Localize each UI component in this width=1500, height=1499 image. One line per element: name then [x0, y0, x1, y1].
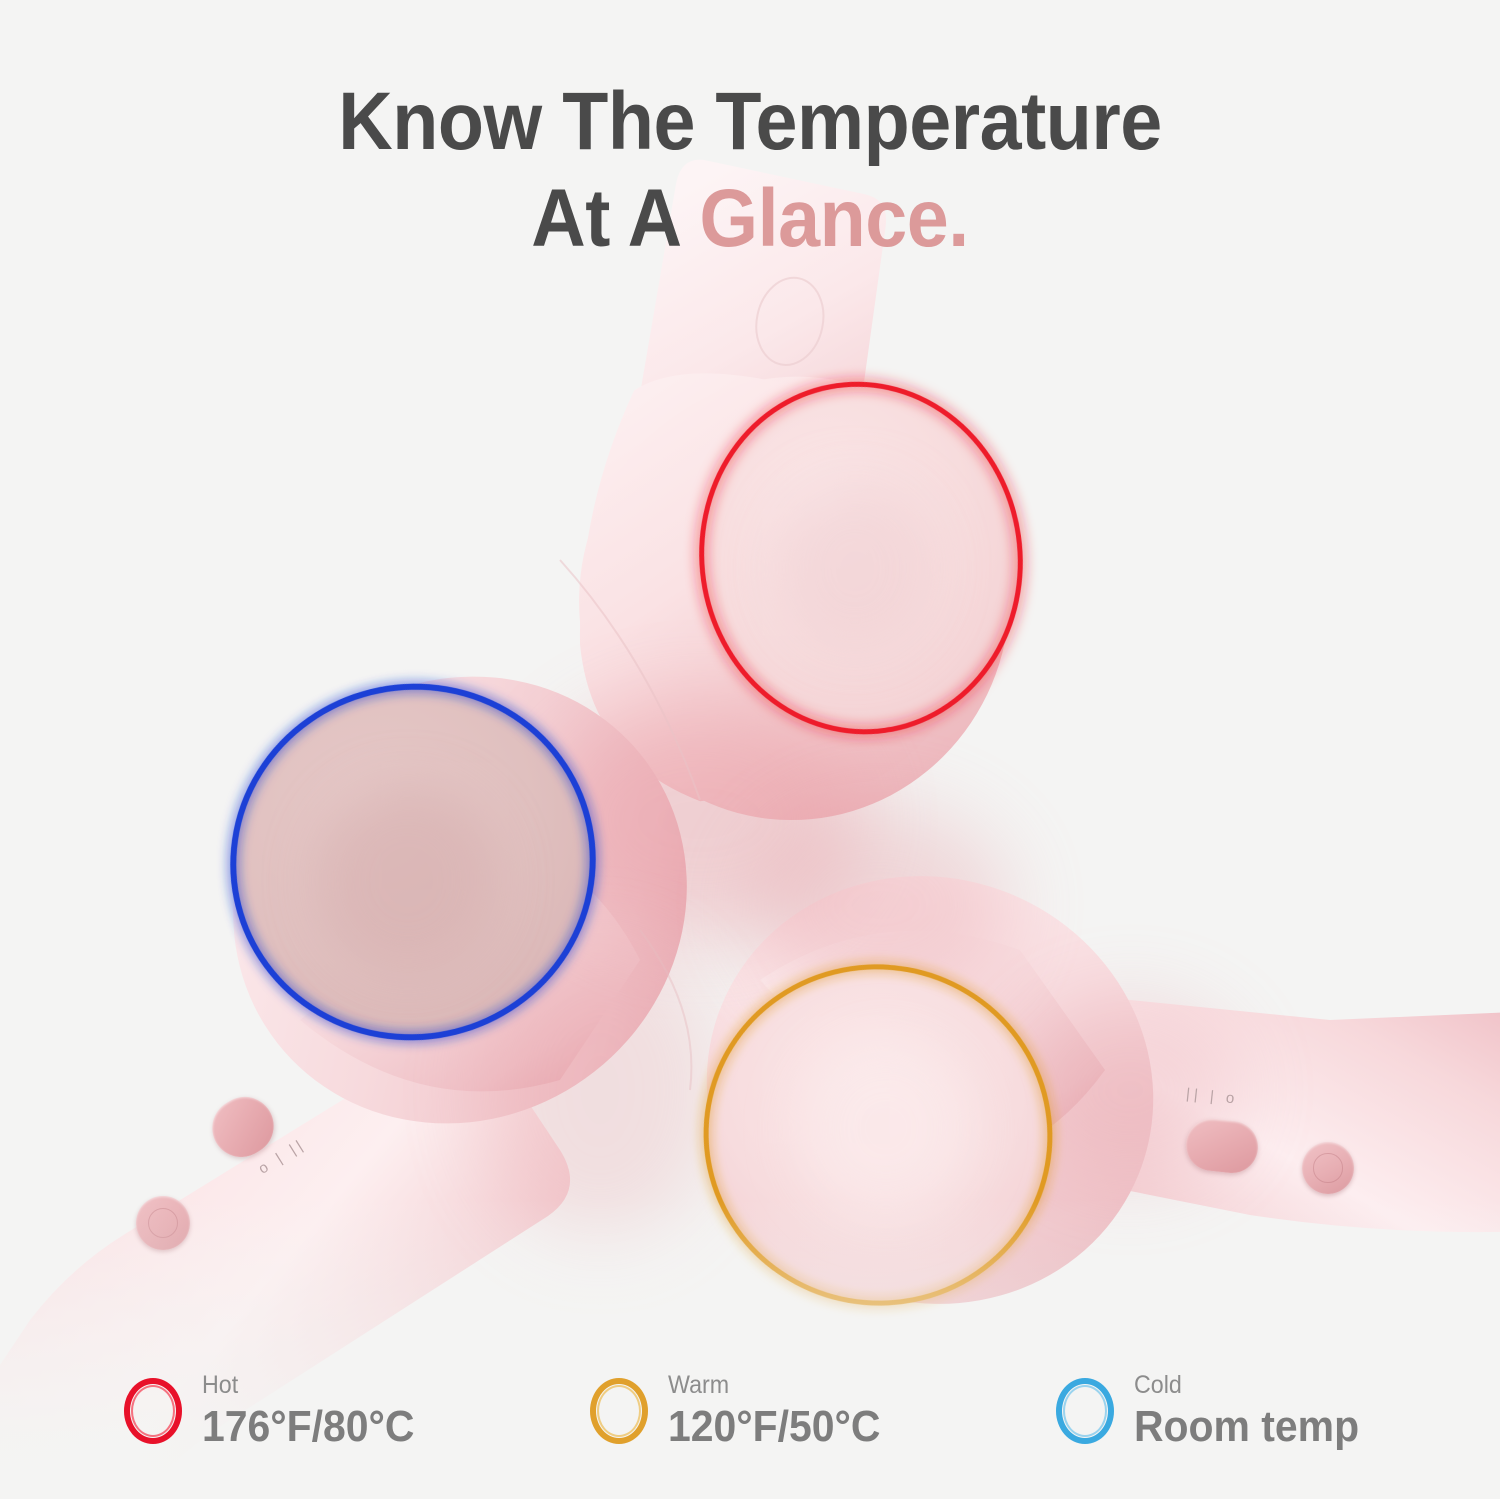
warm-ring-inner: [597, 1385, 641, 1437]
legend-text-cold: Cold Room temp: [1134, 1371, 1376, 1451]
temperature-legend: Hot 176°F/80°C Warm 120°F/50°C Cold Room…: [0, 1371, 1500, 1451]
cold-ring-icon: [1056, 1378, 1114, 1444]
hot-ring-icon: [124, 1378, 182, 1444]
legend-text-hot: Hot 176°F/80°C: [202, 1371, 430, 1451]
hair-dryer-illustration: [0, 0, 1500, 1499]
legend-value-warm: 120°F/50°C: [668, 1402, 880, 1451]
legend-item-hot: Hot 176°F/80°C: [124, 1371, 430, 1451]
product-marketing-image: Know The Temperature At A Glance.: [0, 0, 1500, 1499]
legend-item-warm: Warm 120°F/50°C: [590, 1371, 896, 1451]
legend-label-warm: Warm: [668, 1371, 880, 1400]
warm-ring-icon: [590, 1378, 648, 1444]
hot-ring-inner: [131, 1385, 175, 1437]
cool-shot-button-left[interactable]: [136, 1196, 190, 1250]
legend-label-hot: Hot: [202, 1371, 414, 1400]
legend-item-cold: Cold Room temp: [1056, 1371, 1376, 1451]
legend-label-cold: Cold: [1134, 1371, 1359, 1400]
legend-value-cold: Room temp: [1134, 1402, 1359, 1451]
product-scene: o | || || | o: [0, 0, 1500, 1499]
cool-shot-button-right[interactable]: [1302, 1142, 1354, 1194]
legend-text-warm: Warm 120°F/50°C: [668, 1371, 896, 1451]
legend-value-hot: 176°F/80°C: [202, 1402, 414, 1451]
